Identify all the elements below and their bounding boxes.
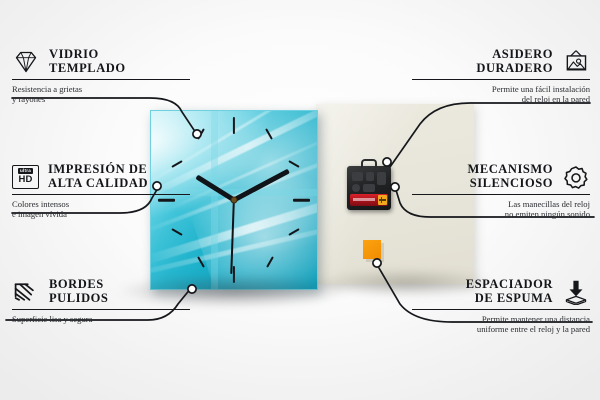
mechanism-dial [352, 184, 360, 192]
feature-divider [12, 309, 190, 310]
feature-title: ASIDERO DURADERO [476, 48, 553, 75]
feature-title: BORDES PULIDOS [49, 278, 108, 305]
feature-divider [412, 79, 590, 80]
mechanism-button [377, 172, 386, 185]
foam-spacer-icon [562, 279, 590, 305]
mechanism-hanger [361, 159, 377, 168]
feature-header: VIDRIO TEMPLADO [12, 48, 190, 75]
infographic-stage: VIDRIO TEMPLADO Resistencia a grietas y … [0, 0, 600, 400]
mechanism-button [366, 172, 374, 181]
feature-vidrio-templado: VIDRIO TEMPLADO Resistencia a grietas y … [12, 48, 190, 105]
feature-description: Permite mantener una distancia uniforme … [412, 314, 590, 335]
feature-impresion-alta-calidad: ultra HD IMPRESIÓN DE ALTA CALIDAD Color… [12, 163, 190, 220]
feature-title: VIDRIO TEMPLADO [49, 48, 126, 75]
feature-header: ESPACIADOR DE ESPUMA [412, 278, 590, 305]
feature-asidero-duradero: ASIDERO DURADERO Permite una fácil insta… [412, 48, 590, 105]
feature-description: Colores intensos e imagen vívida [12, 199, 190, 220]
feature-divider [12, 79, 190, 80]
feature-espaciador-de-espuma: ESPACIADOR DE ESPUMA Permite mantener un… [412, 278, 590, 335]
feature-divider [412, 194, 590, 195]
wall-hanger-icon [562, 49, 590, 75]
clock-tick-12 [233, 117, 235, 134]
feature-divider [12, 194, 190, 195]
feature-description: Resistencia a grietas y rayones [12, 84, 190, 105]
feature-divider [412, 309, 590, 310]
quartz-clock-mechanism [347, 166, 391, 210]
polished-edges-icon [12, 279, 40, 305]
feature-description: Las manecillas del reloj no emiten ningú… [412, 199, 590, 220]
feature-bordes-pulidos: BORDES PULIDOS Superficie lisa y segura [12, 278, 190, 324]
feature-description: Superficie lisa y segura [12, 314, 190, 325]
feature-header: ultra HD IMPRESIÓN DE ALTA CALIDAD [12, 163, 190, 190]
clock-tick-3 [293, 199, 310, 202]
feature-mecanismo-silencioso: MECANISMO SILENCIOSO Las manecillas del … [412, 163, 590, 220]
feature-title: MECANISMO SILENCIOSO [467, 163, 553, 190]
feature-header: MECANISMO SILENCIOSO [412, 163, 590, 190]
feature-description: Permite una fácil instalación del reloj … [412, 84, 590, 105]
feature-header: BORDES PULIDOS [12, 278, 190, 305]
mechanism-button [352, 172, 363, 181]
clock-center-hub [231, 197, 238, 204]
mechanism-button [363, 184, 375, 192]
battery-plus-terminal [378, 195, 387, 205]
battery-label [353, 198, 375, 201]
ultra-hd-icon: ultra HD [12, 165, 39, 189]
feature-header: ASIDERO DURADERO [412, 48, 590, 75]
foam-spacer [363, 240, 381, 259]
feature-title: IMPRESIÓN DE ALTA CALIDAD [48, 163, 148, 190]
diamond-icon [12, 49, 40, 75]
clock-battery [350, 194, 388, 206]
gear-icon [562, 164, 590, 190]
ultra-hd-icon-main-text: HD [18, 175, 32, 185]
feature-title: ESPACIADOR DE ESPUMA [466, 278, 553, 305]
